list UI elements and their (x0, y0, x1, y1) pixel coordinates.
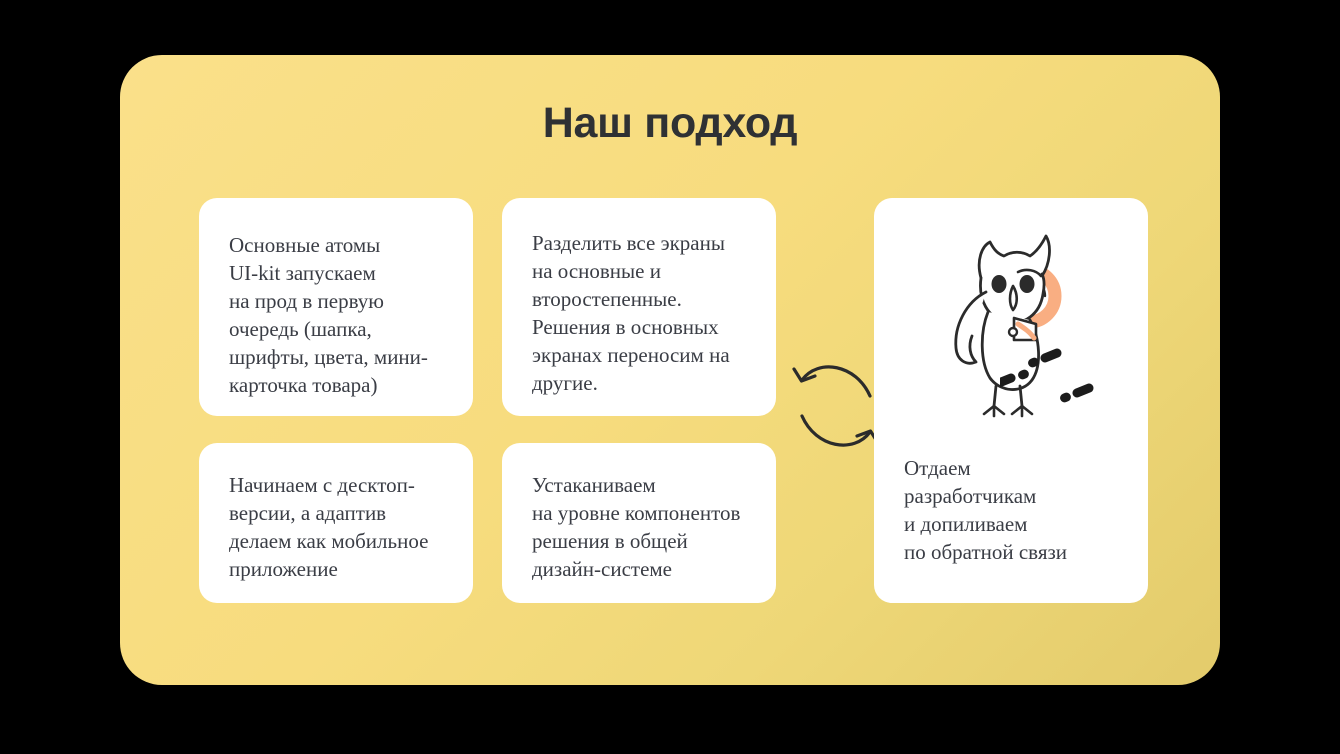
card-text: Основные атомы UI-kit запускаем на прод … (229, 231, 428, 399)
slide-canvas: Наш подход Основные атомы UI-kit запуска… (0, 0, 1340, 754)
card-text: Разделить все экраны на основные и второ… (532, 229, 730, 397)
card-text: Устаканиваем на уровне компонентов решен… (532, 471, 740, 583)
card-design-system[interactable]: Устаканиваем на уровне компонентов решен… (502, 443, 776, 603)
card-desktop-first[interactable]: Начинаем с десктоп- версии, а адаптив де… (199, 443, 473, 603)
card-text: Начинаем с десктоп- версии, а адаптив де… (229, 471, 428, 583)
page-title: Наш подход (120, 102, 1220, 145)
card-ui-kit-atoms[interactable]: Основные атомы UI-kit запускаем на прод … (199, 198, 473, 416)
cycle-arrows-icon (788, 350, 884, 462)
card-text: Отдаем разработчикам и допиливаем по обр… (904, 454, 1067, 566)
footprints-icon (1000, 346, 1120, 416)
card-split-screens[interactable]: Разделить все экраны на основные и второ… (502, 198, 776, 416)
card-handoff[interactable]: Отдаем разработчикам и допиливаем по обр… (874, 198, 1148, 603)
content-panel: Наш подход Основные атомы UI-kit запуска… (120, 55, 1220, 685)
